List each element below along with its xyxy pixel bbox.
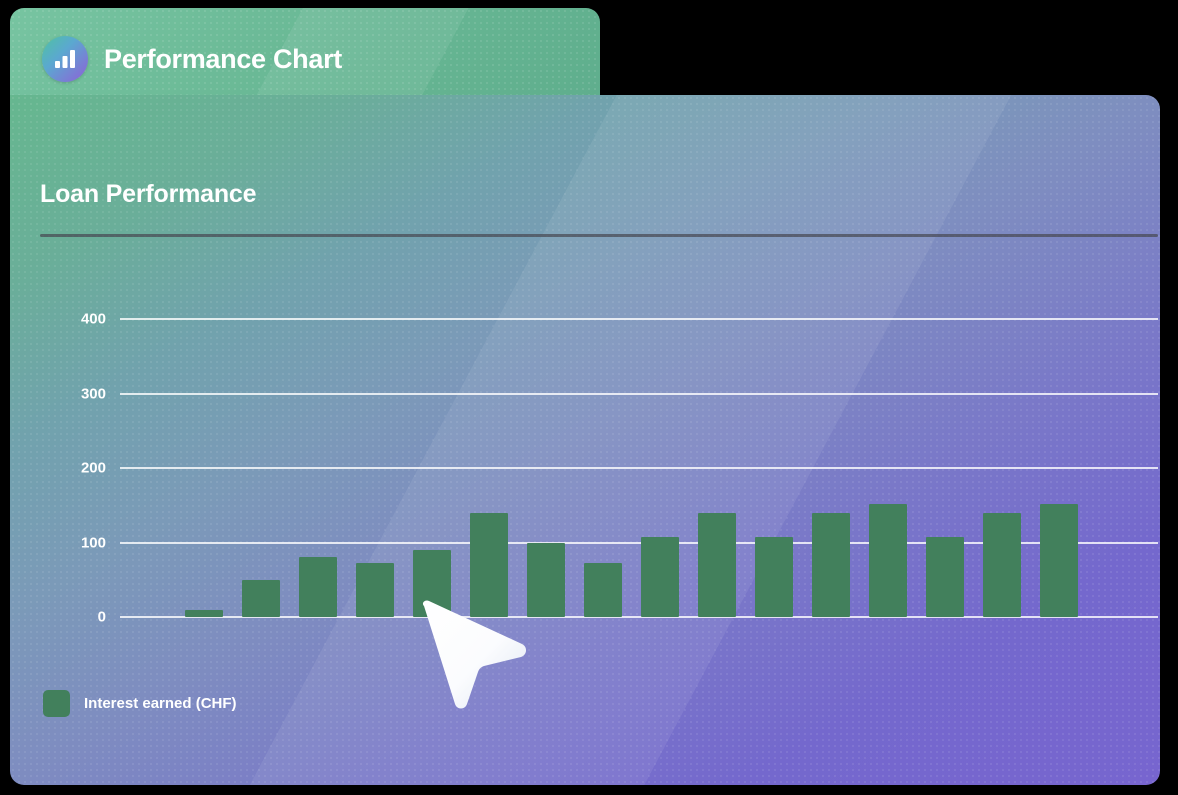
bar-chart-icon [42,36,88,82]
y-axis-tick-label: 400 [46,311,106,328]
bar[interactable] [983,513,1021,617]
bar[interactable] [698,513,736,617]
app-title: Performance Chart [104,44,342,75]
legend-swatch-interest-earned [43,690,70,717]
y-axis-tick-label: 300 [46,385,106,402]
header-card: Performance Chart [10,8,600,96]
chart-plot-area[interactable]: 0100200300400 [10,95,1160,785]
header-content: Performance Chart [10,8,600,82]
gridline-200 [120,467,1158,469]
bar[interactable] [356,563,394,617]
y-axis-tick-label: 100 [46,534,106,551]
bar[interactable] [755,537,793,617]
gridline-400 [120,318,1158,320]
chart-card: Loan Performance 0100200300400 Interest … [10,95,1160,785]
bar[interactable] [1040,504,1078,617]
y-axis-tick-label: 0 [46,609,106,626]
bar[interactable] [185,610,223,617]
bar[interactable] [812,513,850,617]
bar[interactable] [299,557,337,617]
bar[interactable] [470,513,508,617]
app-root: Performance Chart Loan Performance 01002… [0,0,1178,795]
bar[interactable] [527,543,565,618]
y-axis-tick-label: 200 [46,460,106,477]
bar[interactable] [584,563,622,617]
bar[interactable] [413,550,451,617]
gridline-300 [120,393,1158,395]
bar[interactable] [242,580,280,617]
bar[interactable] [926,537,964,617]
legend-label-interest-earned: Interest earned (CHF) [84,695,237,712]
bar[interactable] [641,537,679,617]
bar[interactable] [869,504,907,617]
chart-legend: Interest earned (CHF) [43,690,237,717]
